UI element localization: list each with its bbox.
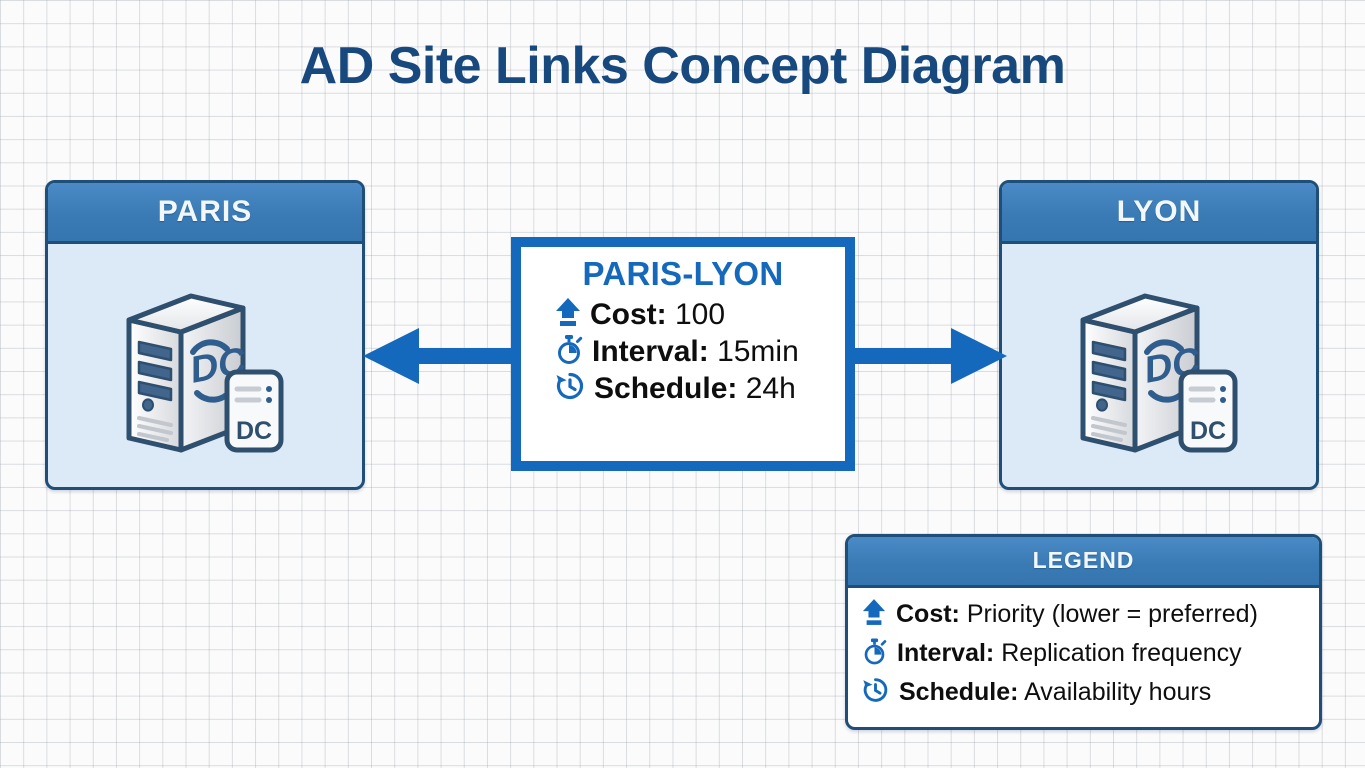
legend-interval-desc: Replication frequency	[1001, 639, 1241, 667]
legend-schedule-text: Schedule: Availability hours	[899, 678, 1211, 707]
link-interval-text: Interval: 15min	[592, 335, 799, 369]
legend-box[interactable]: LEGEND Cost: Priority (lower = preferred…	[845, 534, 1322, 730]
server-dc-icon: DC DC	[115, 276, 295, 461]
cost-arrow-up-icon	[862, 598, 886, 631]
arrow-to-lyon	[845, 320, 1015, 395]
svg-text:DC: DC	[1190, 417, 1226, 445]
legend-cost-label: Cost:	[896, 600, 960, 628]
site-link-box[interactable]: PARIS-LYON Cost: 100 Interval: 15min	[511, 237, 855, 471]
stopwatch-icon	[862, 637, 887, 670]
arrow-to-paris	[355, 320, 525, 395]
legend-row-schedule: Schedule: Availability hours	[862, 676, 1319, 709]
legend-schedule-desc: Availability hours	[1024, 678, 1211, 706]
dc-badge-card: DC	[1181, 372, 1235, 450]
dc-badge-card: DC	[227, 372, 281, 450]
site-body-paris: DC DC	[48, 244, 362, 490]
cost-arrow-up-icon	[555, 297, 581, 332]
link-schedule-text: Schedule: 24h	[594, 372, 796, 406]
link-cost-label: Cost:	[590, 298, 667, 331]
clock-history-icon	[555, 371, 585, 406]
site-body-lyon: DC DC	[1002, 244, 1316, 490]
legend-interval-label: Interval:	[897, 639, 994, 667]
link-title: PARIS-LYON	[582, 255, 783, 293]
site-header-lyon: LYON	[1002, 183, 1316, 244]
legend-cost-text: Cost: Priority (lower = preferred)	[896, 600, 1258, 629]
svg-text:DC: DC	[236, 417, 272, 445]
legend-row-cost: Cost: Priority (lower = preferred)	[862, 598, 1319, 631]
link-interval-value: 15min	[717, 335, 799, 368]
clock-history-icon	[862, 676, 889, 709]
link-row-cost: Cost: 100	[521, 297, 845, 332]
legend-row-interval: Interval: Replication frequency	[862, 637, 1319, 670]
link-schedule-label: Schedule:	[594, 372, 737, 405]
link-row-interval: Interval: 15min	[521, 334, 845, 369]
site-box-paris[interactable]: PARIS	[45, 180, 365, 490]
site-box-lyon[interactable]: LYON DC	[999, 180, 1319, 490]
legend-body: Cost: Priority (lower = preferred) Inter…	[848, 588, 1319, 709]
link-row-schedule: Schedule: 24h	[521, 371, 845, 406]
legend-schedule-label: Schedule:	[899, 678, 1018, 706]
legend-header: LEGEND	[848, 537, 1319, 588]
server-dc-icon: DC DC	[1069, 276, 1249, 461]
link-cost-text: Cost: 100	[590, 298, 725, 332]
link-cost-value: 100	[675, 298, 725, 331]
page-title: AD Site Links Concept Diagram	[0, 36, 1365, 96]
stopwatch-icon	[555, 334, 583, 369]
link-interval-label: Interval:	[592, 335, 709, 368]
legend-cost-desc: Priority (lower = preferred)	[967, 600, 1258, 628]
site-header-paris: PARIS	[48, 183, 362, 244]
legend-interval-text: Interval: Replication frequency	[897, 639, 1242, 668]
link-schedule-value: 24h	[746, 372, 796, 405]
